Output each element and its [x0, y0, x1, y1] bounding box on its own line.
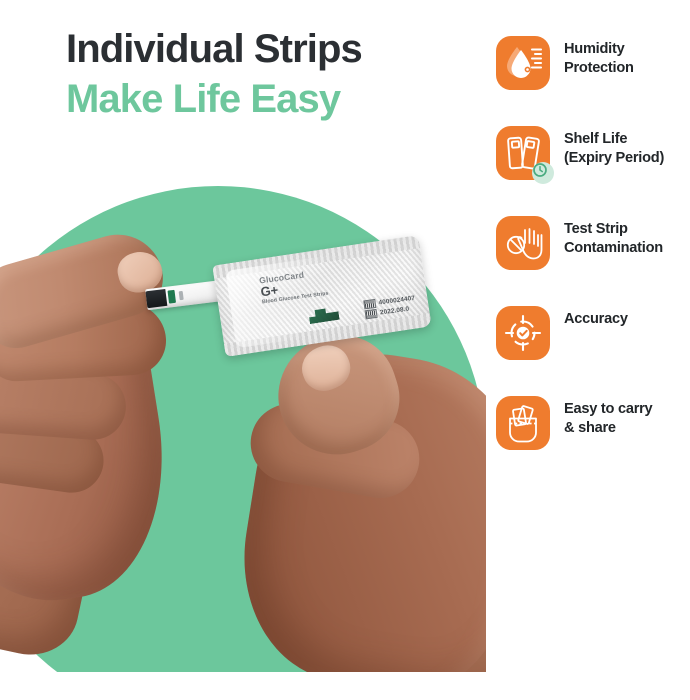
feature-label-test-strip-contamination: Test Strip Contamination — [564, 220, 690, 257]
feature-list: Humidity Protection — [496, 36, 690, 486]
green-circle-clip: GlucoCard G+ Blood Glucose Test Strips 4… — [0, 186, 486, 672]
feature-label-line-2: Protection — [564, 59, 690, 78]
feature-item-test-strip-contamination: Test Strip Contamination — [496, 216, 690, 306]
infographic-stage: Individual Strips Make Life Easy — [0, 0, 690, 700]
feature-item-shelf-life: Shelf Life (Expiry Period) — [496, 126, 690, 216]
hands-holding-strip-photo: GlucoCard G+ Blood Glucose Test Strips 4… — [0, 186, 486, 672]
product-photo-area: GlucoCard G+ Blood Glucose Test Strips 4… — [0, 186, 486, 672]
test-strips-clock-icon — [496, 126, 550, 180]
feature-label-shelf-life: Shelf Life (Expiry Period) — [564, 130, 690, 167]
lot-symbol-icon — [364, 299, 377, 309]
feature-label-line-2: (Expiry Period) — [564, 149, 690, 168]
feature-label-easy-to-carry: Easy to carry & share — [564, 400, 690, 437]
headline-line-2: Make Life Easy — [66, 74, 486, 124]
test-strip-grey-band — [179, 291, 184, 300]
feature-label-line-1: Accuracy — [564, 311, 628, 327]
hourglass-symbol-icon — [365, 309, 378, 319]
page-title: Individual Strips Make Life Easy — [66, 24, 486, 124]
feature-label-line-1: Test Strip — [564, 221, 628, 237]
feature-item-easy-to-carry: Easy to carry & share — [496, 396, 690, 486]
feature-label-line-1: Shelf Life — [564, 131, 627, 147]
feature-label-line-2: Contamination — [564, 239, 690, 258]
feature-label-line-1: Humidity — [564, 41, 624, 57]
hand-contamination-icon — [496, 216, 550, 270]
foil-packet: GlucoCard G+ Blood Glucose Test Strips 4… — [212, 235, 431, 357]
test-strip-green-band — [167, 290, 176, 304]
clock-badge-icon — [532, 162, 554, 184]
feature-label-accuracy: Accuracy — [564, 310, 690, 329]
accuracy-target-icon — [496, 306, 550, 360]
headline-line-1: Individual Strips — [66, 24, 486, 74]
humidity-drop-icon — [496, 36, 550, 90]
feature-label-line-2: & share — [564, 419, 690, 438]
feature-label-humidity-protection: Humidity Protection — [564, 40, 690, 77]
feature-item-humidity-protection: Humidity Protection — [496, 36, 690, 126]
test-strip-tip — [145, 289, 167, 308]
pocket-carry-icon — [496, 396, 550, 450]
feature-item-accuracy: Accuracy — [496, 306, 690, 396]
feature-label-line-1: Easy to carry — [564, 401, 652, 417]
